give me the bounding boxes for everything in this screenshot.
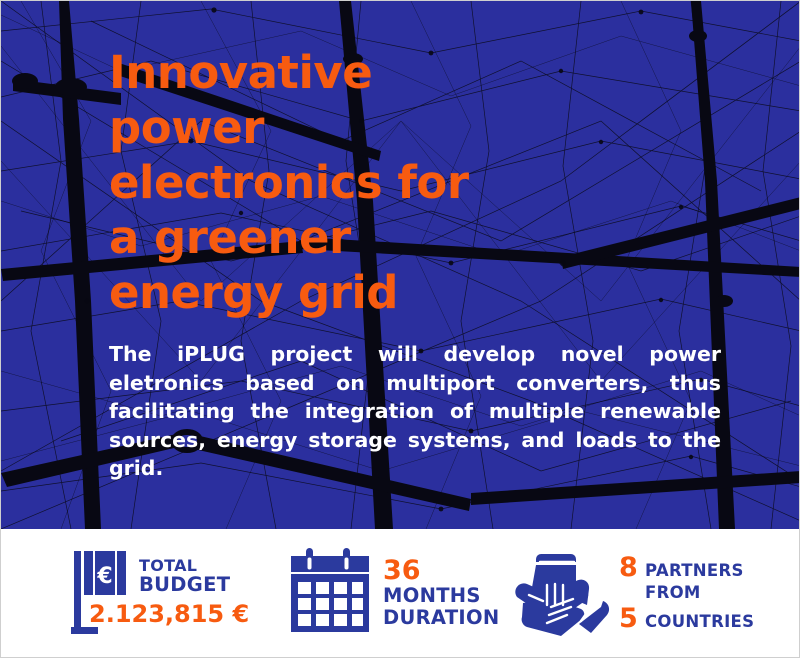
stat-partners: 8 PARTNERS FROM 5 COUNTRIES [499, 545, 799, 641]
stat-total-budget: € TOTAL BUDGET 2.123,815 € [1, 545, 279, 641]
duration-labels: 36 MONTHS DURATION [371, 557, 499, 628]
partners-label: PARTNERS [645, 562, 744, 579]
countries-count: 5 [619, 603, 645, 634]
page-title: Innovative power electronics for a green… [109, 45, 489, 320]
countries-label: COUNTRIES [645, 613, 754, 630]
infographic-poster: Innovative power electronics for a green… [0, 0, 800, 658]
handshake-hands-icon [507, 545, 611, 641]
duration-count: 36 [383, 557, 499, 584]
stats-bar: € TOTAL BUDGET 2.123,815 € [1, 529, 799, 657]
budget-labels: TOTAL BUDGET 2.123,815 € [129, 558, 249, 628]
hero-description: The iPLUG project will develop novel pow… [109, 320, 721, 511]
calendar-icon [289, 548, 371, 638]
budget-title-line2: BUDGET [139, 575, 249, 596]
partners-row-countries: 5 COUNTRIES [619, 603, 754, 634]
hero-content: Innovative power electronics for a green… [1, 1, 800, 529]
partners-from-label: FROM [645, 584, 701, 601]
svg-text:€: € [96, 564, 112, 589]
budget-amount: 2.123,815 € [89, 600, 249, 628]
stat-duration: 36 MONTHS DURATION [279, 548, 499, 638]
partners-count: 8 [619, 552, 645, 583]
hero-panel: Innovative power electronics for a green… [1, 1, 800, 529]
duration-unit: MONTHS [383, 586, 499, 607]
partners-row-from: FROM [619, 584, 754, 601]
partners-labels: 8 PARTNERS FROM 5 COUNTRIES [611, 552, 754, 633]
duration-word: DURATION [383, 608, 499, 629]
partners-row-partners: 8 PARTNERS [619, 552, 754, 583]
